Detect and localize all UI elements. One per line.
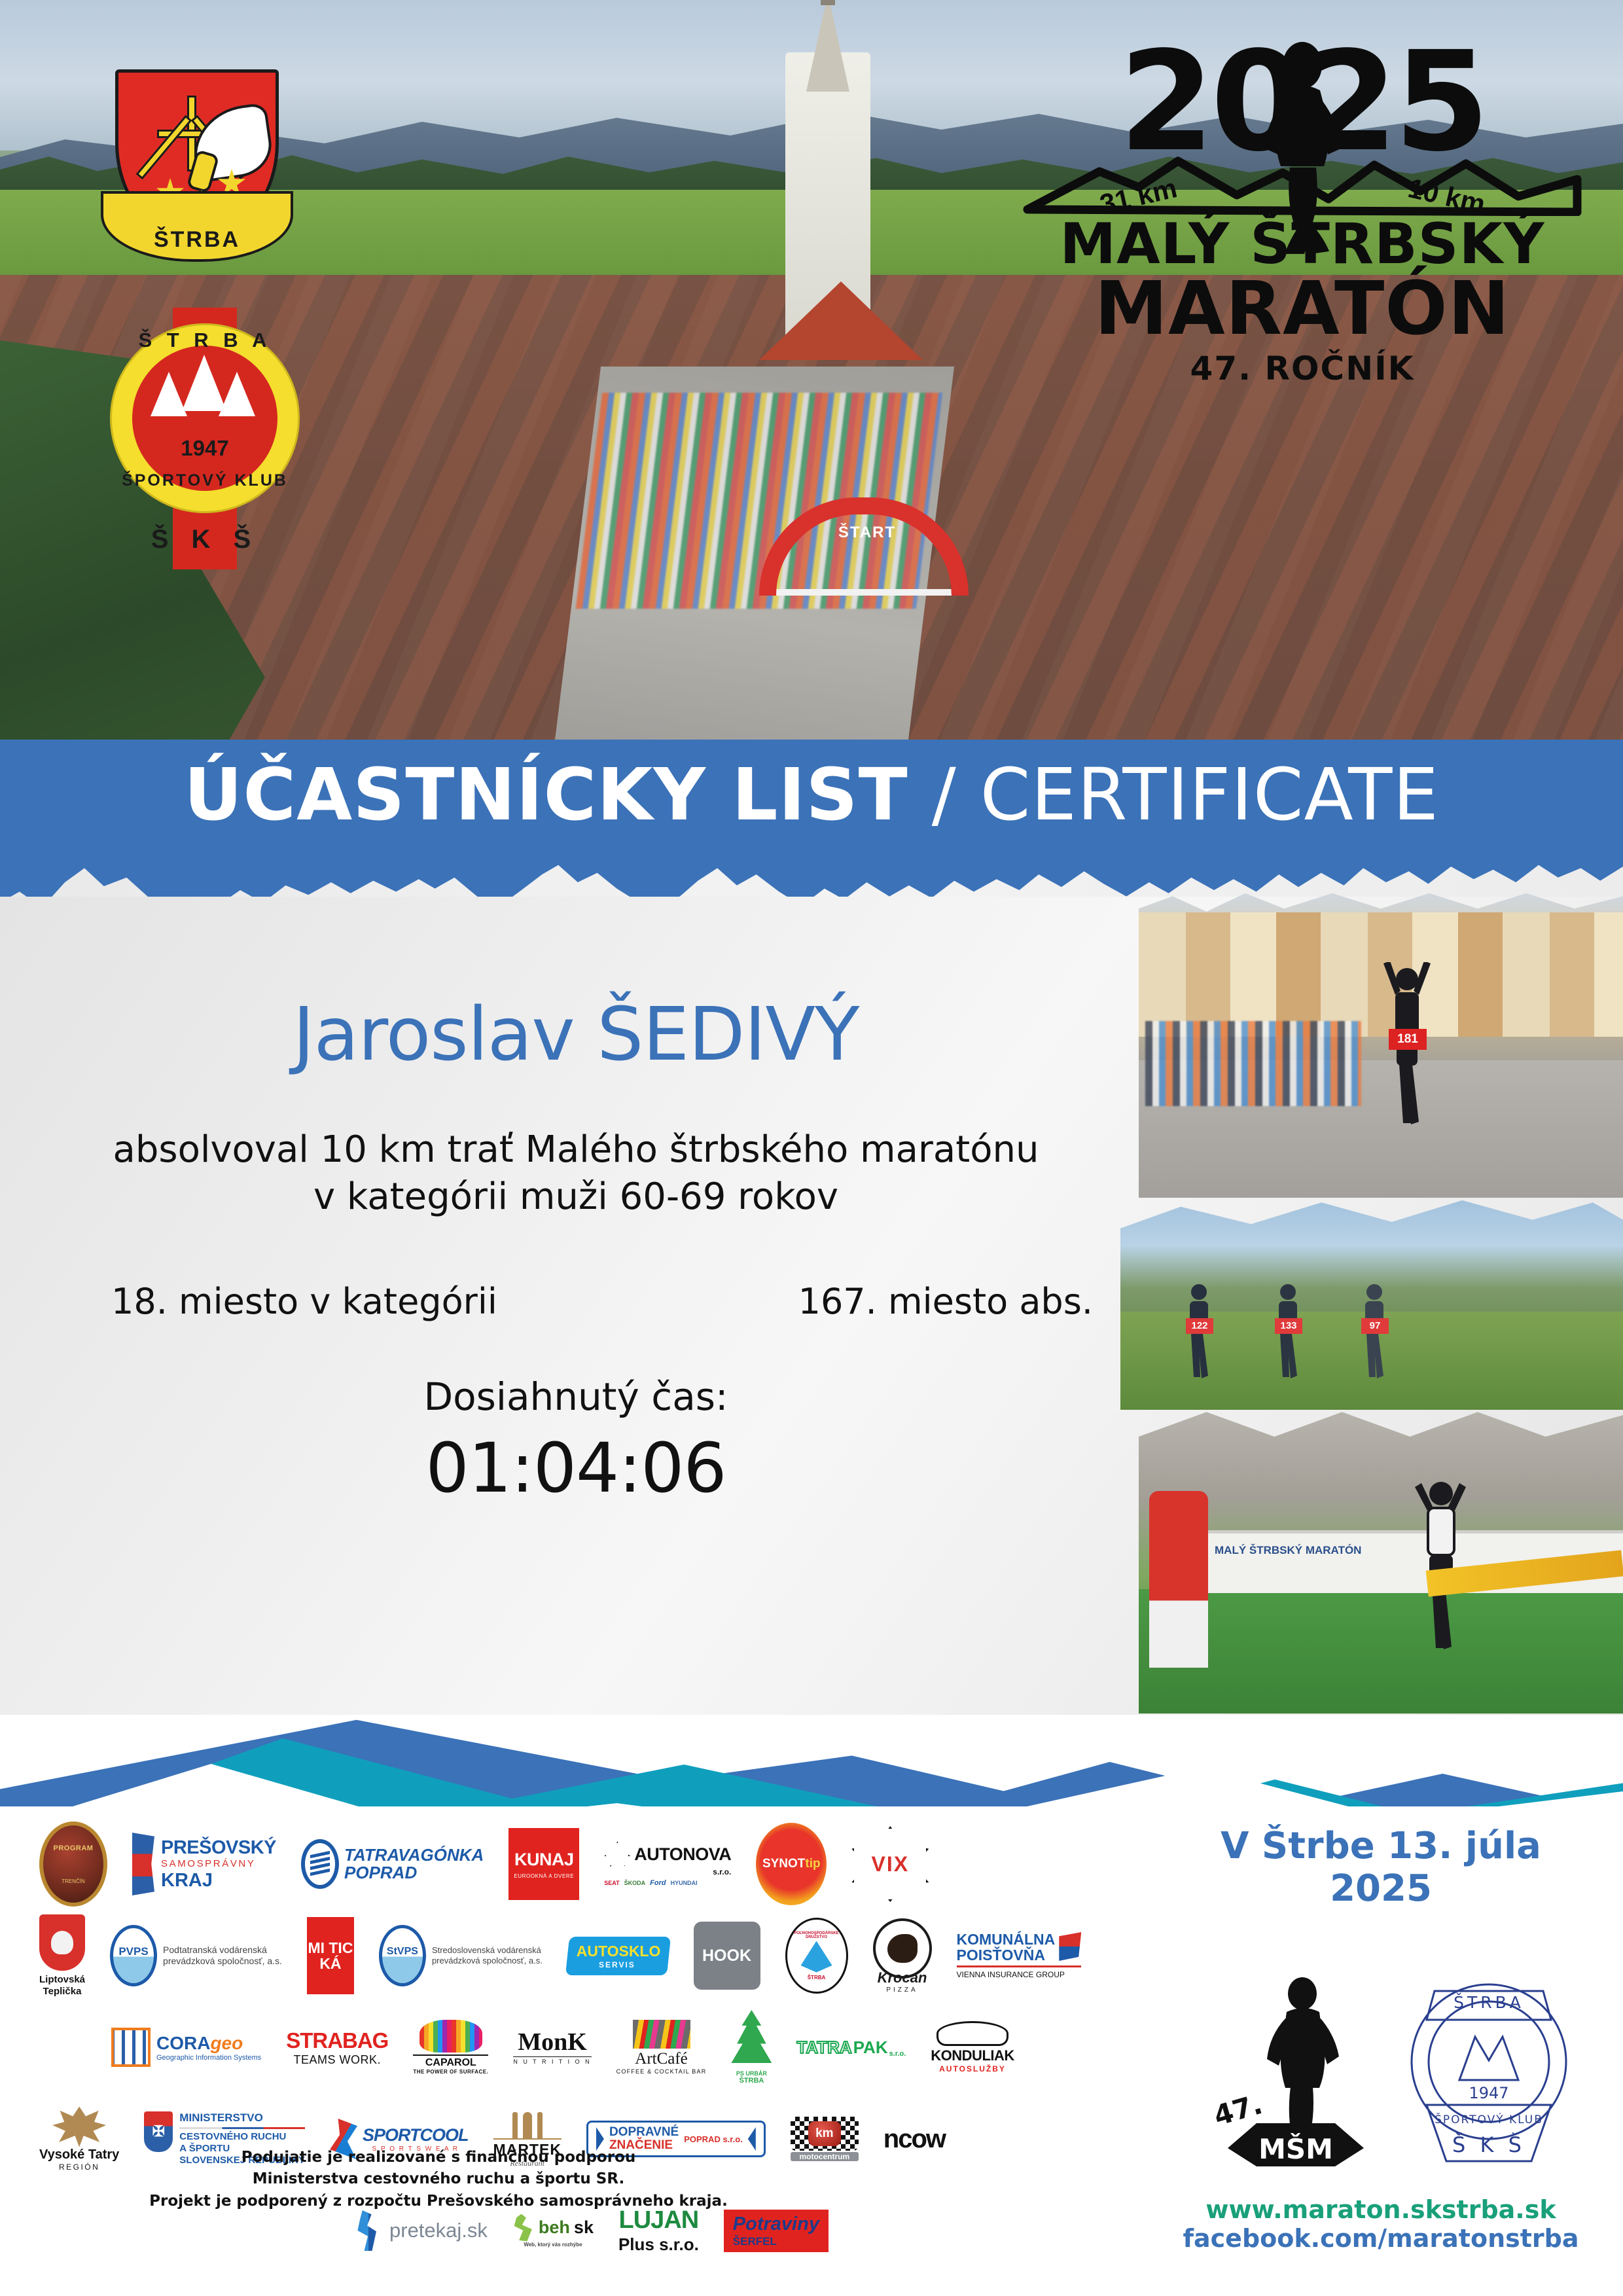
club-logo-top-text: Š T R B A xyxy=(110,329,300,352)
sponsor-logo-text: TATRAVAGÓNKA xyxy=(344,1846,484,1864)
description-line1: absolvoval 10 km trať Malého štrbského m… xyxy=(0,1126,1152,1174)
beh-runner-icon xyxy=(512,2214,535,2242)
sponsor-logo-sub: s.r.o. xyxy=(889,2050,906,2058)
description-line2: v kategórii muži 60-69 rokov xyxy=(0,1174,1152,1221)
sponsor-logo-text: SYNOT xyxy=(762,1857,805,1871)
banner-title: ÚČASTNÍCKY LIST / CERTIFICATE xyxy=(0,753,1623,836)
tatravagonka-mark-icon xyxy=(301,1839,339,1889)
facebook-link[interactable]: facebook.com/maratonstrba xyxy=(1165,2224,1597,2253)
corageo-grid-icon xyxy=(111,2028,151,2067)
sponsor-artcafe: ArtCafé COFFEE & COCKTAIL BAR xyxy=(616,2008,707,2087)
sks-stamp-icon: ŠTRBA 1947 ŠPORTOVÝ KLUB Š K Š xyxy=(1400,1977,1577,2166)
sponsor-logo-text: ncow xyxy=(883,2125,945,2154)
sponsor-polnohospodarske-druzstvo: POĽNOHOSPODÁRSKE DRUŽSTVO ŠTRBA xyxy=(785,1916,848,1995)
sponsor-logo-text: KUNAJ xyxy=(514,1850,574,1870)
sks-stamp-top: ŠTRBA xyxy=(1454,1992,1524,2012)
sponsor-logo-sub: s.r.o. xyxy=(604,1867,731,1876)
kraj-flag-icon xyxy=(132,1833,154,1895)
sponsor-logo-text: KONDULIAK xyxy=(931,2047,1014,2064)
spruce-tree-icon xyxy=(731,2010,772,2070)
sponsor-logo-text2: tip xyxy=(805,1857,820,1871)
name-ribbon: ŠTRBA xyxy=(101,191,293,262)
sponsor-caparol: CAPAROL THE POWER OF SURFACE. xyxy=(413,2008,488,2087)
sponsor-logo-sub: ŠTRBA xyxy=(731,2077,772,2085)
sponsor-logo-sub: KRAJ xyxy=(161,1871,276,1890)
sponsor-logo-text: MINISTERSTVO xyxy=(179,2111,305,2125)
bib-number-photo2-c: 97 xyxy=(1361,1318,1389,1334)
place-category: 18. miesto v kategórii xyxy=(111,1281,497,1322)
sponsor-pvps: PVPS Podtatranská vodárenská prevádzková… xyxy=(110,1916,282,1995)
sponsor-strabag: STRABAG TEAMS WORK. xyxy=(286,2008,388,2087)
athlete-name: Jaroslav ŠEDIVÝ xyxy=(0,995,1152,1075)
sponsor-liptovska-teplicka: Liptovská Tepli­čka xyxy=(39,1916,85,1995)
sponsor-logo-sub: Stredoslovenská vodárenská prevádzková s… xyxy=(432,1945,543,1967)
club-logo-year: 1947 xyxy=(110,436,300,461)
sponsor-logo-sub: SERVIS xyxy=(575,1960,659,1969)
sponsor-row-3: CORAgeo Geographic Information Systems S… xyxy=(39,2001,1152,2093)
club-logo-abbr: Š K Š xyxy=(110,525,300,554)
sponsor-tatravagonka: TATRAVAGÓNKA POPRAD xyxy=(301,1825,484,1903)
sponsor-logo-text: Potraviny xyxy=(733,2214,819,2235)
event-edition: 47. ROČNÍK xyxy=(1021,350,1584,387)
funding-note-line1: Podujatie je realizované s finančnou pod… xyxy=(52,2147,825,2168)
sponsor-logo-sub: Web, ktorý vás rozhýbe xyxy=(512,2242,594,2248)
sponsor-logo-text: TATRA xyxy=(796,2037,851,2058)
sponsor-logo-sub: POPRAD s.r.o. xyxy=(684,2134,743,2144)
sponsor-logo-text: CORA xyxy=(156,2033,210,2053)
sponsor-logo-text: HOOK xyxy=(702,1946,751,1965)
sponsor-row-2: Liptovská Tepli­čka PVPS Podtatranská vo… xyxy=(39,1910,1152,2001)
kp-flag-icon xyxy=(1059,1932,1081,1961)
sponsor-logo-text: PS URBÁR xyxy=(731,2070,772,2077)
sponsor-logo-text: beh xyxy=(539,2217,570,2238)
sponsor-logo-text: km xyxy=(808,2121,841,2146)
distance-row: 31 km 10 km xyxy=(1021,153,1584,216)
runner-silhouette-icon xyxy=(1247,39,1358,255)
runner-photo-figure xyxy=(1382,962,1432,1158)
sponsor-stvps: StVPS Stredoslovenská vodárenská prevádz… xyxy=(379,1916,543,1995)
sponsor-logo-sub: Podtatranská vodárenská prevádzková spol… xyxy=(163,1945,282,1967)
photo-runners-on-course: 122 133 97 xyxy=(1120,1194,1623,1410)
sponsor-logo-sub: AUTOSLUŽBY xyxy=(931,2064,1014,2073)
artcafe-mark-icon xyxy=(633,2020,690,2049)
sponsor-logo-text: POĽNOHOSPODÁRSKE DRUŽSTVO xyxy=(787,1931,846,1939)
sponsor-ps-urbar-strba: PS URBÁR ŠTRBA xyxy=(731,2008,772,2087)
sponsor-logo-sub: VIENNA INSURANCE GROUP xyxy=(957,1970,1082,1979)
msm-runner-icon: 47. MŠM xyxy=(1211,1977,1374,2166)
sponsor-synottip: SYNOTtip xyxy=(756,1825,827,1903)
sponsor-logo-line1: CESTOVNÉHO RUCHU xyxy=(179,2131,305,2143)
sponsor-logo-sub: THE POWER OF SURFACE. xyxy=(413,2069,488,2075)
sponsor-logo-text: VIX xyxy=(872,1852,910,1876)
certificate-description: absolvoval 10 km trať Malého štrbského m… xyxy=(0,1126,1152,1220)
sponsor-logo-sub: ŠTRBA xyxy=(808,1975,826,1981)
funding-note-line2: Ministerstva cestovného ruchu a športu S… xyxy=(52,2168,825,2190)
msm-abbr: MŠM xyxy=(1258,2132,1333,2165)
folk-costume-spectator xyxy=(1149,1491,1208,1668)
sponsor-logo-text: AUTONOVA xyxy=(634,1844,731,1865)
slovak-crest-icon: ✠ xyxy=(144,2111,173,2152)
sks-stamp-mid: ŠPORTOVÝ KLUB xyxy=(1435,2112,1543,2126)
header-photo: ŠTART ŠTRBA Š T R B A 1947 ŠPORTOVÝ KLUB xyxy=(0,0,1623,772)
banner-title-en: CERTIFICATE xyxy=(980,753,1439,836)
sponsor-logo-sub: COFFEE & COCKTAIL BAR xyxy=(616,2068,707,2075)
row-houses xyxy=(1139,912,1623,1037)
sponsor-logo-sub: PIZZA xyxy=(873,1986,932,1994)
sponsor-logo-sub: N U T R I T I O N xyxy=(513,2056,591,2065)
mountain-peaks-icon xyxy=(147,355,264,440)
sponsor-komunalna-poistovna: KOMUNÁLNA POISŤOVŇA VIENNA INSURANCE GRO… xyxy=(957,1916,1082,1995)
sponsor-logo-sub: Geographic Information Systems xyxy=(156,2054,261,2062)
website-link[interactable]: www.maraton.skstrba.sk xyxy=(1165,2195,1597,2224)
sponsor-autosklo-servis: AUTOSKLO SERVIS xyxy=(567,1916,669,1995)
finish-banner-text: MALÝ ŠTRBSKÝ MARATÓN xyxy=(1215,1544,1361,1557)
sponsor-hook: HOOK xyxy=(694,1916,760,1995)
sponsor-logo-text: Krocan xyxy=(873,1969,932,1986)
club-logo-bottom-text: ŠPORTOVÝ KLUB xyxy=(110,471,300,490)
sponsor-logo-text: CAPAROL xyxy=(413,2054,488,2069)
sponsor-logo-text: pretekaj.sk xyxy=(389,2219,488,2242)
sponsor-logo-text: SPORTCOOL xyxy=(363,2125,469,2145)
edelweiss-icon xyxy=(52,2107,106,2147)
spectators xyxy=(1145,1021,1361,1106)
sponsor-logo-text2: PAK xyxy=(853,2037,888,2058)
sponsor-kunaj: KUNAJ EUROOKNÁ A DVERE xyxy=(508,1825,579,1903)
sports-club-logo: Š T R B A 1947 ŠPORTOVÝ KLUB Š K Š xyxy=(110,308,300,569)
certificate-content: Jaroslav ŠEDIVÝ absolvoval 10 km trať Ma… xyxy=(0,995,1152,1508)
event-date: V Štrbe 13. júla 2025 xyxy=(1165,1825,1597,1910)
sponsor-logo-text2: sk xyxy=(574,2217,594,2238)
event-name-line2: MARATÓN xyxy=(1021,272,1584,346)
sponsor-logo-text: ArtCafé xyxy=(616,2050,707,2068)
sponsor-logo-sub: Liptovská Tepli­čka xyxy=(39,1974,85,1997)
sponsor-konduliak: KONDULIAK AUTOSLUŽBY xyxy=(931,2008,1014,2087)
bib-number-photo2-a: 122 xyxy=(1186,1318,1213,1334)
cutlery-icon xyxy=(493,2109,562,2138)
sponsor-logo-sub: Plus s.r.o. xyxy=(618,2234,699,2255)
photo-collage: 181 122 133 97 MALÝ ŠTRBSKÝ MARATÓN xyxy=(1113,885,1623,1716)
photo-finish-female-runner: 181 xyxy=(1139,890,1623,1198)
sponsor-logo-text: KOMUNÁLNA xyxy=(957,1932,1056,1947)
sponsor-logo-sub: ŠERFEL xyxy=(733,2235,819,2248)
sponsor-program-trencin: PROGRAM TRENČÍN xyxy=(39,1825,107,1903)
funding-note: Podujatie je realizované s finančnou pod… xyxy=(52,2147,825,2212)
brand-seat: SEAT xyxy=(604,1880,619,1886)
sks-stamp: ŠTRBA 1947 ŠPORTOVÝ KLUB Š K Š xyxy=(1400,1977,1577,2166)
sponsor-krocan-pizza: Krocan PIZZA xyxy=(873,1916,932,1995)
church-steeple xyxy=(821,0,835,5)
bib-number-photo1: 181 xyxy=(1389,1029,1427,1050)
sks-stamp-abbr: Š K Š xyxy=(1452,2132,1525,2157)
start-arch-label: ŠTART xyxy=(805,524,929,542)
sponsor-logo-text: StVPS xyxy=(387,1946,418,1958)
banner-title-sk: ÚČASTNÍCKY LIST xyxy=(184,753,908,836)
footer-right-column: V Štrbe 13. júla 2025 47. MŠM xyxy=(1165,1813,1597,2284)
sponsor-logo-text: PREŠOVSKÝ xyxy=(161,1838,276,1857)
sponsor-logo-text: MI TIC KÁ xyxy=(307,1940,354,1972)
place-absolute: 167. miesto abs. xyxy=(798,1281,1093,1322)
msm-logo: 47. MŠM xyxy=(1211,1977,1374,2166)
car-outline-icon xyxy=(936,2021,1008,2046)
sponsor-logo-sub: TRENČÍN xyxy=(62,1878,85,1884)
sponsor-logo-text: DOPRAVNÉ xyxy=(609,2126,679,2139)
time-label: Dosiahnutý čas: xyxy=(0,1374,1152,1419)
autonova-star-icon xyxy=(604,1841,630,1867)
sponsor-logo-text: PVPS xyxy=(118,1945,148,1958)
coat-of-arms-name: ŠTRBA xyxy=(103,227,291,253)
water-drop-icon xyxy=(801,1941,832,1973)
sks-stamp-year: 1947 xyxy=(1469,2084,1508,2102)
sponsor-monk-nutrition: MonK N U T R I T I O N xyxy=(513,2008,591,2087)
sponsor-vix: VIX xyxy=(851,1825,929,1903)
sponsor-logo-text: STRABAG xyxy=(286,2028,388,2053)
checkered-flag-icon: km xyxy=(791,2117,859,2151)
sponsor-logo-mid: SAMOSPRÁVNY xyxy=(161,1859,276,1869)
sponsor-row-1: PROGRAM TRENČÍN PREŠOVSKÝ SAMOSPRÁVNY KR… xyxy=(39,1818,1152,1910)
sponsor-logo-text2: POISŤOVŇA xyxy=(957,1948,1056,1963)
brand-ford: Ford xyxy=(650,1879,666,1887)
banner-separator: / xyxy=(908,753,980,836)
photo-finish-male-runner: MALÝ ŠTRBSKÝ MARATÓN xyxy=(1139,1406,1623,1713)
sponsor-presovsky-kraj: PREŠOVSKÝ SAMOSPRÁVNY KRAJ xyxy=(132,1825,276,1903)
sponsor-ncow: ncow xyxy=(883,2100,945,2178)
sponsors-section: PROGRAM TRENČÍN PREŠOVSKÝ SAMOSPRÁVNY KR… xyxy=(0,1806,1623,2296)
runners-icon xyxy=(353,2210,383,2251)
sponsor-logo-text: PROGRAM xyxy=(54,1844,94,1852)
sponsor-logo-text2: geo xyxy=(210,2033,243,2053)
marathon-title-block: 2025 31 km 10 km MALÝ ŠTRBSKÝ MARATÓN 47… xyxy=(1021,46,1584,387)
brand-hyundai: HYUNDAI xyxy=(671,1880,698,1886)
sponsor-logo-text: AUTOSKLO xyxy=(577,1943,661,1960)
teplicka-crest-icon xyxy=(39,1914,85,1971)
sponsor-autonova: AUTONOVA s.r.o. SEAT ŠKODA Ford HYUNDAI xyxy=(604,1825,731,1903)
funding-note-line3: Projekt je podporený z rozpočtu Prešovsk… xyxy=(52,2191,825,2212)
sponsor-logo-sub: POPRAD xyxy=(344,1864,484,1882)
bib-number-photo2-b: 133 xyxy=(1275,1318,1302,1334)
brand-skoda: ŠKODA xyxy=(624,1880,646,1886)
sponsor-logo-text: MonK xyxy=(513,2030,591,2054)
sponsor-logo-sub: TEAMS WORK. xyxy=(286,2053,388,2067)
sponsor-miticka: MI TIC KÁ xyxy=(307,1916,354,1995)
time-value: 01:04:06 xyxy=(0,1428,1152,1508)
footer-links: www.maraton.skstrba.sk facebook.com/mara… xyxy=(1165,2195,1597,2253)
sponsor-logo-sub: EUROOKNÁ A DVERE xyxy=(514,1873,574,1879)
strba-coat-of-arms: ŠTRBA xyxy=(115,69,279,272)
caparol-elephant-icon xyxy=(419,2020,482,2053)
placement-row: 18. miesto v kategórii 167. miesto abs. xyxy=(0,1281,1152,1322)
sponsor-corageo: CORAgeo Geographic Information Systems xyxy=(111,2008,261,2087)
sponsor-tatrapak: TATRA PAK s.r.o. xyxy=(796,2008,906,2087)
